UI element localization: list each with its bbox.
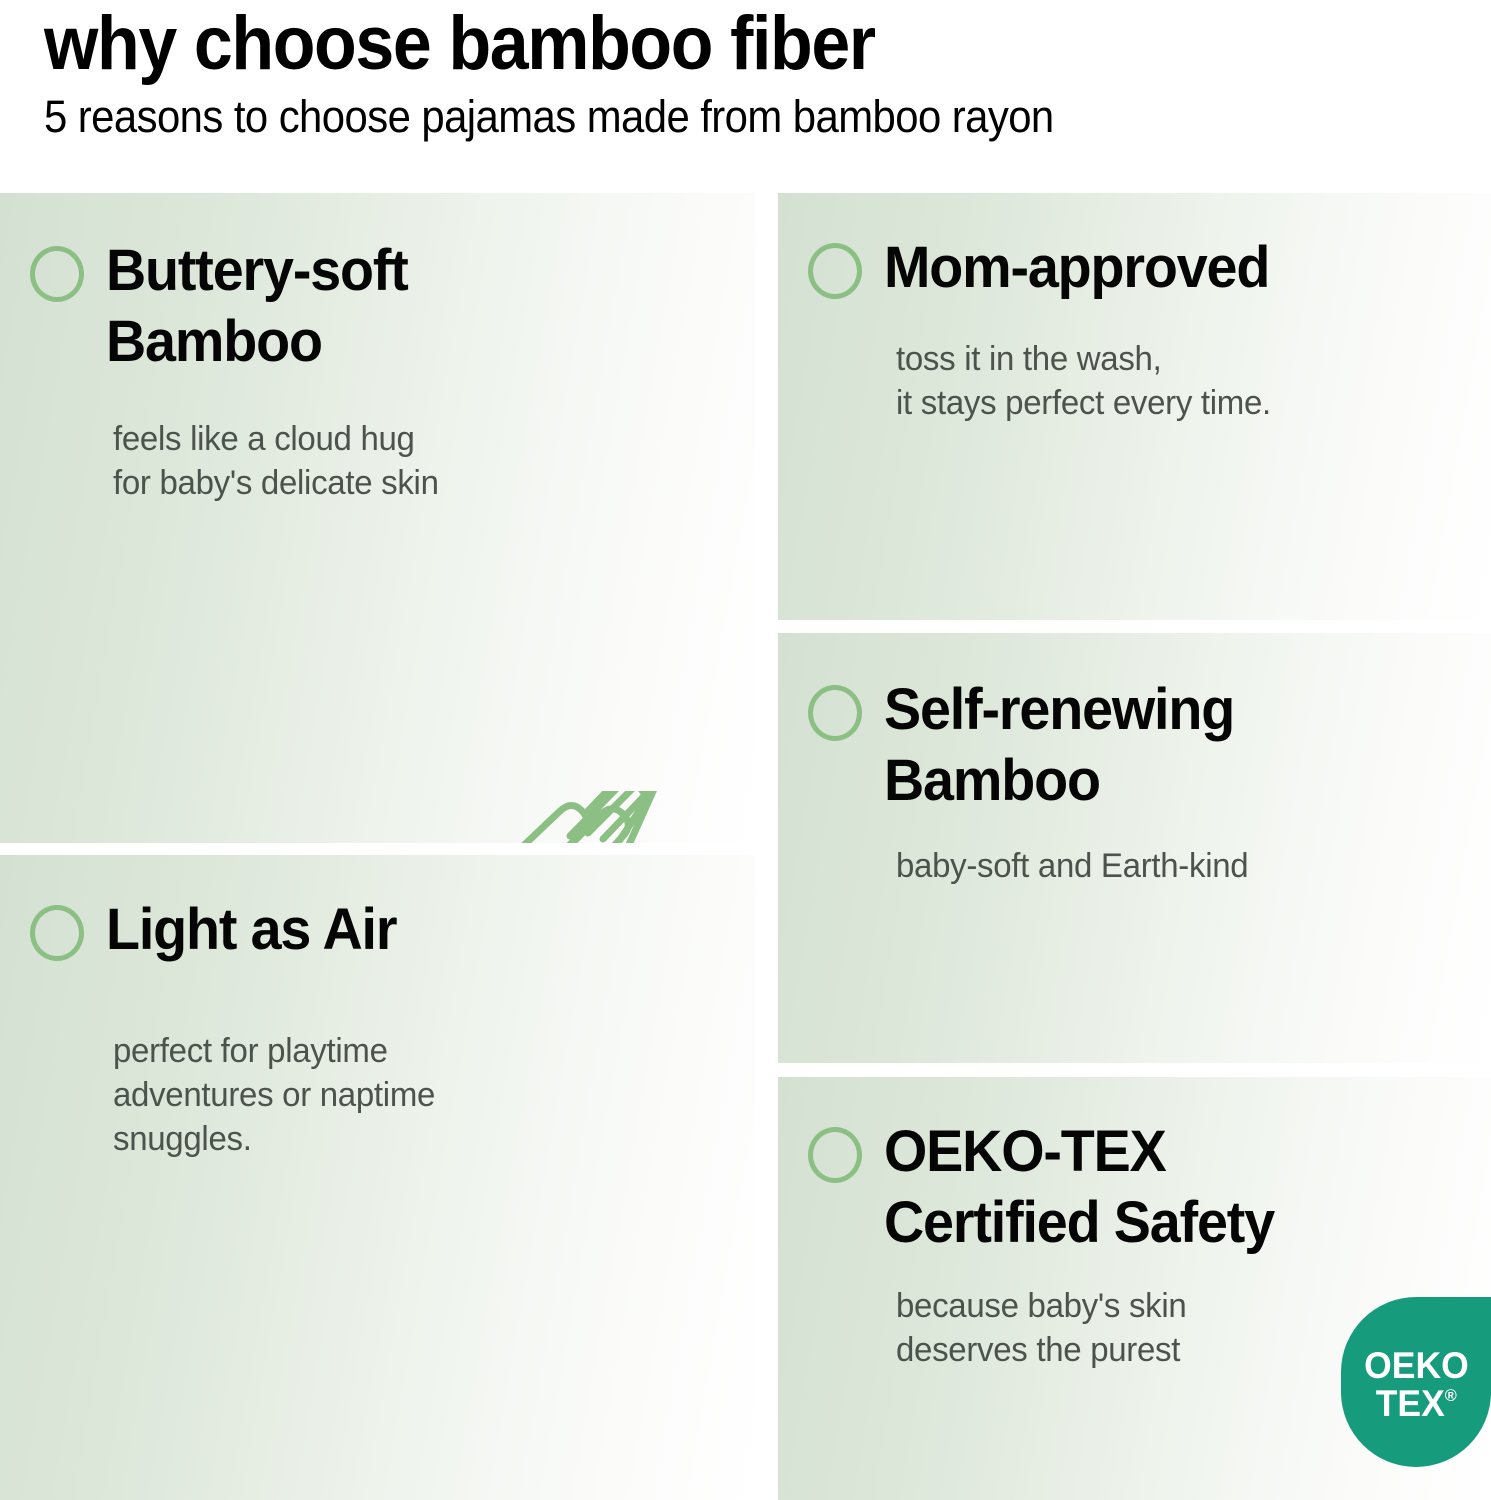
- card-title: Light as Air: [106, 895, 396, 966]
- card-description: baby-soft and Earth-kind: [896, 845, 1248, 889]
- soft-touch-hand-icon: [498, 791, 728, 843]
- oeko-tex-badge-text: TEX: [1375, 1385, 1444, 1423]
- card-title: OEKO-TEX Certified Safety: [884, 1117, 1274, 1259]
- circle-outline-icon: [30, 246, 84, 302]
- card-description: feels like a cloud hug for baby's delica…: [113, 418, 439, 506]
- benefits-grid: Buttery-soft Bamboo feels like a cloud h…: [0, 0, 1491, 1500]
- card-header: Light as Air: [30, 895, 408, 966]
- oeko-tex-badge-line2: TEX ®: [1375, 1385, 1456, 1423]
- card-description: because baby's skin deserves the purest: [896, 1285, 1186, 1373]
- card-buttery-soft-bamboo: Buttery-soft Bamboo feels like a cloud h…: [0, 193, 755, 843]
- oeko-tex-badge-line1: OEKO: [1364, 1347, 1469, 1385]
- card-mom-approved: Mom-approved toss it in the wash, it sta…: [778, 193, 1491, 620]
- registered-mark-icon: ®: [1445, 1387, 1457, 1404]
- card-description: perfect for playtime adventures or napti…: [113, 1030, 435, 1162]
- card-header: Self-renewing Bamboo: [808, 675, 1249, 817]
- circle-outline-icon: [808, 1127, 862, 1183]
- card-title: Buttery-soft Bamboo: [106, 236, 408, 378]
- card-header: Mom-approved: [808, 233, 1285, 304]
- card-light-as-air: Light as Air perfect for playtime advent…: [0, 855, 755, 1500]
- card-header: OEKO-TEX Certified Safety: [808, 1117, 1290, 1259]
- card-title: Self-renewing Bamboo: [884, 675, 1234, 817]
- card-header: Buttery-soft Bamboo: [30, 236, 420, 378]
- circle-outline-icon: [808, 243, 862, 299]
- card-description: toss it in the wash, it stays perfect ev…: [896, 338, 1271, 426]
- card-title: Mom-approved: [884, 233, 1269, 304]
- circle-outline-icon: [808, 685, 862, 741]
- circle-outline-icon: [30, 905, 84, 961]
- card-self-renewing-bamboo: Self-renewing Bamboo baby-soft and Earth…: [778, 633, 1491, 1063]
- oeko-tex-badge: OEKO TEX ®: [1341, 1297, 1491, 1467]
